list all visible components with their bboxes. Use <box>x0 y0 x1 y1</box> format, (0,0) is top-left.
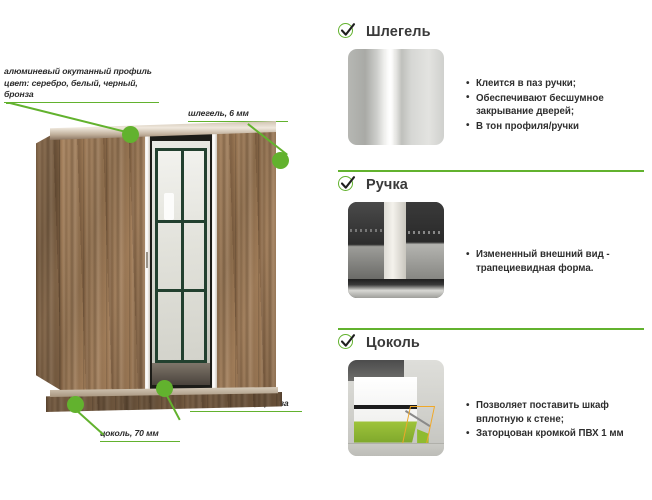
bullet-item: Позволяет поставить шкаф вплотную к стен… <box>465 399 652 426</box>
callout-plinth: цоколь, 70 мм <box>100 428 180 442</box>
feature-section-shlegel: Шлегель Клеится в паз ручки; Обеспечиваю… <box>330 22 652 170</box>
feature-infographic-page: алюминевый окутанный профиль цвет: сереб… <box>0 0 652 500</box>
mirror-highlight-pane <box>164 193 174 220</box>
mirror-frame-horizontal-bar-1 <box>158 220 204 223</box>
marker-profile <box>122 126 139 143</box>
feature-title-tsokol: Цоколь <box>366 335 420 351</box>
feature-bullets-tsokol: Позволяет поставить шкаф вплотную к стен… <box>465 399 652 442</box>
wardrobe-side-panel <box>36 129 62 391</box>
mirror-reflected-frame <box>155 148 207 363</box>
thumb-cabinet-shadow-gap <box>354 405 417 409</box>
feature-header-ruchka: Ручка <box>338 175 408 194</box>
check-circle-icon <box>338 22 357 41</box>
section-divider-1 <box>338 170 644 172</box>
mirror-frame-vertical-bar <box>181 151 184 360</box>
door-left-wood <box>60 130 150 396</box>
feature-thumbnail-tsokol <box>348 360 444 456</box>
feature-thumbnail-shlegel <box>348 49 444 145</box>
check-circle-icon <box>338 333 357 352</box>
section-divider-2 <box>338 328 644 330</box>
thumb-door-left <box>348 202 384 279</box>
mirror-surface <box>152 141 210 386</box>
thumb-bottom-rail <box>348 279 444 298</box>
feature-title-shlegel: Шлегель <box>366 24 431 40</box>
wardrobe-illustration-pane: алюминевый окутанный профиль цвет: сереб… <box>0 0 330 500</box>
check-circle-icon <box>338 175 357 194</box>
thumb-floor-tile <box>348 443 444 456</box>
bullet-item: Обеспечивают бесшумное закрывание дверей… <box>465 92 650 119</box>
mirror-frame-horizontal-bar-2 <box>158 289 204 292</box>
bullet-item: Измененный внешний вид - трапециевидная … <box>465 248 650 275</box>
thumb-texture-dots-left <box>350 229 383 232</box>
feature-bullets-ruchka: Измененный внешний вид - трапециевидная … <box>465 248 650 276</box>
feature-header-tsokol: Цоколь <box>338 333 420 352</box>
bullet-item: Заторцован кромкой ПВХ 1 мм <box>465 427 652 441</box>
thumb-handle-post <box>384 202 405 286</box>
feature-title-ruchka: Ручка <box>366 177 408 193</box>
feature-thumbnail-ruchka <box>348 202 444 298</box>
marker-plinth <box>67 396 84 413</box>
bullet-item: Клеится в паз ручки; <box>465 77 650 91</box>
feature-bullets-shlegel: Клеится в паз ручки; Обеспечивают бесшум… <box>465 77 650 134</box>
features-pane: Шлегель Клеится в паз ручки; Обеспечиваю… <box>330 0 652 500</box>
feature-section-tsokol: Цоколь Позволяет поставить шкаф вплотную… <box>330 333 652 483</box>
bullet-item: В тон профиля/ручки <box>465 120 650 134</box>
wardrobe-front <box>60 130 276 396</box>
handle-seam-line <box>146 252 148 268</box>
feature-header-shlegel: Шлегель <box>338 22 431 41</box>
thumb-door-right <box>406 202 444 279</box>
door-right-wood <box>212 130 276 396</box>
wardrobe-body <box>36 118 280 408</box>
marker-handles <box>156 380 173 397</box>
brush-strip-highlight <box>386 49 394 145</box>
thumb-texture-dots-right <box>408 231 443 234</box>
door-handle-right <box>212 130 217 396</box>
callout-profile: алюминевый окутанный профиль цвет: сереб… <box>4 66 159 103</box>
marker-shlegel <box>272 152 289 169</box>
feature-section-ruchka: Ручка Измененный внешний вид - трапециев… <box>330 175 652 323</box>
door-middle-mirror <box>150 130 213 396</box>
